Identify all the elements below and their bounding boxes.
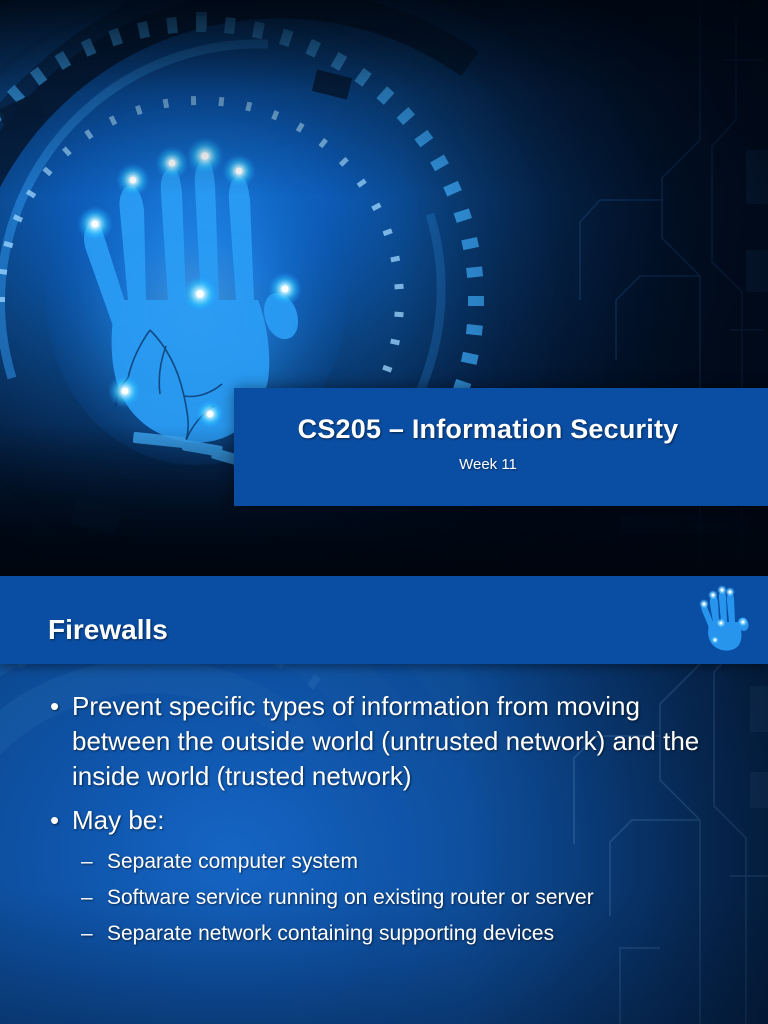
hand-scan-icon	[696, 582, 750, 658]
sub-bullet-marker: –	[81, 916, 93, 952]
sub-bullet-text: Software service running on existing rou…	[107, 886, 594, 909]
content-slide: Firewalls	[0, 576, 768, 1024]
slide-title: Firewalls	[48, 614, 168, 646]
sub-bullet-item: – Separate network containing supporting…	[0, 916, 768, 952]
sub-bullet-marker: –	[81, 880, 93, 916]
sub-bullet-marker: –	[81, 844, 93, 880]
sub-bullet-item: – Separate computer system	[0, 844, 768, 880]
sub-bullet-text: Separate computer system	[107, 850, 358, 873]
page-title: CS205 – Information Security	[234, 414, 742, 445]
bullet-text: Prevent specific types of information fr…	[72, 691, 699, 791]
bullet-item: • May be:	[0, 803, 768, 838]
title-banner: CS205 – Information Security Week 11	[234, 388, 768, 506]
sub-bullet-item: – Software service running on existing r…	[0, 880, 768, 916]
cover-slide: CS205 – Information Security Week 11	[0, 0, 768, 576]
bullet-text: May be:	[72, 805, 165, 835]
slide-body: • Prevent specific types of information …	[0, 664, 768, 1024]
page-subtitle: Week 11	[234, 456, 742, 473]
bullet-item: • Prevent specific types of information …	[0, 689, 768, 794]
slide-deck: CS205 – Information Security Week 11	[0, 0, 768, 1024]
bullet-marker: •	[50, 803, 59, 838]
bullet-marker: •	[50, 689, 59, 724]
sub-bullet-text: Separate network containing supporting d…	[107, 922, 554, 945]
slide-header-bar: Firewalls	[0, 576, 768, 664]
